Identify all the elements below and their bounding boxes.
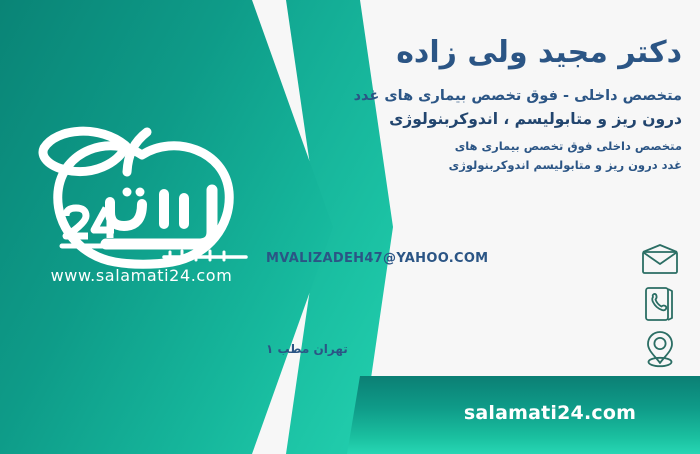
phone-number[interactable]	[262, 303, 628, 304]
doctor-specialty-line-3: متخصص داخلی فوق تخصص بیماری های	[262, 137, 682, 156]
doctor-info-block: دکتر مجید ولی زاده متخصص داخلی - فوق تخص…	[262, 34, 682, 175]
email-address[interactable]: MVALIZADEH47@YAHOO.COM	[262, 251, 628, 266]
contact-list: MVALIZADEH47@YAHOO.COM تهران مطب ۱	[262, 236, 682, 371]
footer-website[interactable]: salamati24.com	[430, 402, 670, 424]
envelope-icon	[638, 238, 682, 280]
logo-website-url: www.salamati24.com	[14, 266, 269, 285]
location-pin-icon	[638, 328, 682, 370]
contact-row-phone[interactable]	[262, 281, 682, 326]
apple-outline-icon	[14, 116, 269, 276]
doctor-specialty-line-4: غدد درون ریز و متابولیسم اندوکربنولوژی	[262, 156, 682, 175]
doctor-specialty-line-1: متخصص داخلی - فوق تخصص بیماری های غدد	[262, 86, 682, 108]
brand-logo: www.salamati24.com	[14, 116, 269, 306]
doctor-name: دکتر مجید ولی زاده	[262, 34, 682, 72]
contact-row-email[interactable]: MVALIZADEH47@YAHOO.COM	[262, 236, 682, 281]
doctor-specialty-line-2: درون ریز و متابولیسم ، اندوکربنولوژی	[262, 108, 682, 131]
contact-row-location[interactable]: تهران مطب ۱	[262, 326, 682, 371]
office-location[interactable]: تهران مطب ۱	[262, 342, 628, 356]
phone-book-icon	[638, 283, 682, 325]
business-card: www.salamati24.com دکتر مجید ولی زاده مت…	[0, 0, 700, 454]
